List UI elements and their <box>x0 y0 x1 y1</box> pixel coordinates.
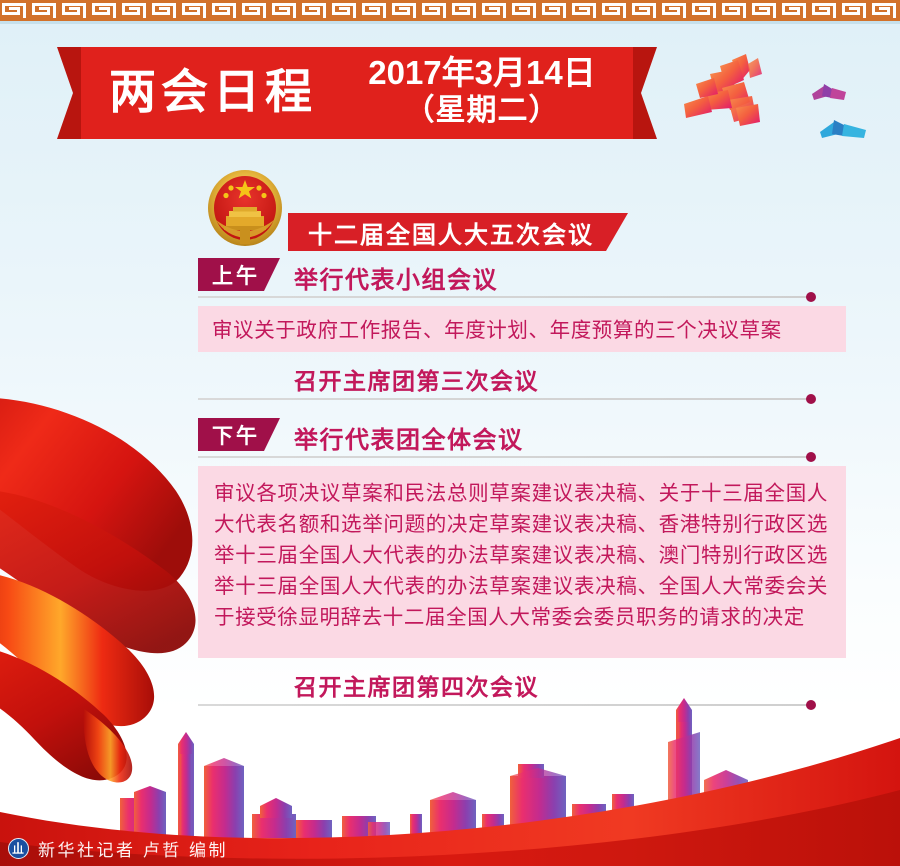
afternoon-heading: 举行代表团全体会议 <box>294 420 524 455</box>
meander-unit <box>210 0 238 21</box>
meander-unit <box>0 0 28 21</box>
header-date: 2017年3月14日 <box>347 53 617 93</box>
divider-dot-afternoon <box>806 452 816 462</box>
meander-unit <box>600 0 628 21</box>
meander-unit <box>90 0 118 21</box>
bird-blue-icon <box>816 112 872 148</box>
meander-unit <box>720 0 748 21</box>
meander-unit <box>870 0 898 21</box>
national-emblem-icon <box>202 166 288 254</box>
xinhua-logo-icon <box>8 838 29 859</box>
divider-dot-morning-followup <box>806 394 816 404</box>
meander-unit <box>360 0 388 21</box>
meander-unit <box>480 0 508 21</box>
meander-unit <box>630 0 658 21</box>
border-underline <box>0 21 900 24</box>
morning-followup: 召开主席团第三次会议 <box>294 362 539 396</box>
afternoon-panel: 审议各项决议草案和民法总则草案建议表决稿、关于十三届全国人大代表名额和选举问题的… <box>198 466 846 658</box>
time-tag-morning-label: 上午 <box>212 260 266 290</box>
meander-unit <box>120 0 148 21</box>
meander-unit <box>150 0 178 21</box>
poster-canvas: 两会日程 2017年3月14日 （星期二） 十二届全国人大五次会 <box>0 0 900 866</box>
meander-unit <box>810 0 838 21</box>
bird-purple-icon <box>808 78 850 108</box>
meander-unit <box>30 0 58 21</box>
meander-unit <box>570 0 598 21</box>
bird-orange-icon <box>676 48 792 144</box>
meander-unit <box>780 0 808 21</box>
meander-unit <box>390 0 418 21</box>
session-banner: 十二届全国人大五次会议 <box>288 213 628 251</box>
meander-unit <box>540 0 568 21</box>
header-weekday: （星期二） <box>347 92 617 130</box>
morning-panel: 审议关于政府工作报告、年度计划、年度预算的三个决议草案 <box>198 306 846 352</box>
footer-credit-text: 新华社记者 卢哲 编制 <box>38 836 228 861</box>
meander-unit <box>300 0 328 21</box>
meander-unit <box>180 0 208 21</box>
meander-unit <box>660 0 688 21</box>
afternoon-panel-text: 审议各项决议草案和民法总则草案建议表决稿、关于十三届全国人大代表名额和选举问题的… <box>198 466 846 645</box>
divider-dot-morning <box>806 292 816 302</box>
meander-border-top <box>0 0 900 21</box>
meander-unit <box>420 0 448 21</box>
meander-unit <box>240 0 268 21</box>
meander-unit <box>690 0 718 21</box>
meander-unit <box>330 0 358 21</box>
meander-unit <box>750 0 778 21</box>
meander-unit <box>510 0 538 21</box>
divider-afternoon <box>198 456 810 458</box>
morning-panel-text: 审议关于政府工作报告、年度计划、年度预算的三个决议草案 <box>198 306 846 346</box>
meander-unit <box>840 0 868 21</box>
page-title: 两会日程 <box>109 63 317 121</box>
meander-unit <box>60 0 88 21</box>
meander-unit <box>450 0 478 21</box>
meander-unit <box>270 0 298 21</box>
divider-morning <box>198 296 810 298</box>
morning-heading: 举行代表小组会议 <box>294 260 498 295</box>
footer-credit-bar: 新华社记者 卢哲 编制 <box>0 830 900 866</box>
session-banner-label: 十二届全国人大五次会议 <box>308 215 594 250</box>
title-ribbon: 两会日程 2017年3月14日 （星期二） <box>57 47 657 139</box>
time-tag-morning: 上午 <box>198 258 280 291</box>
divider-morning-followup <box>198 398 810 400</box>
